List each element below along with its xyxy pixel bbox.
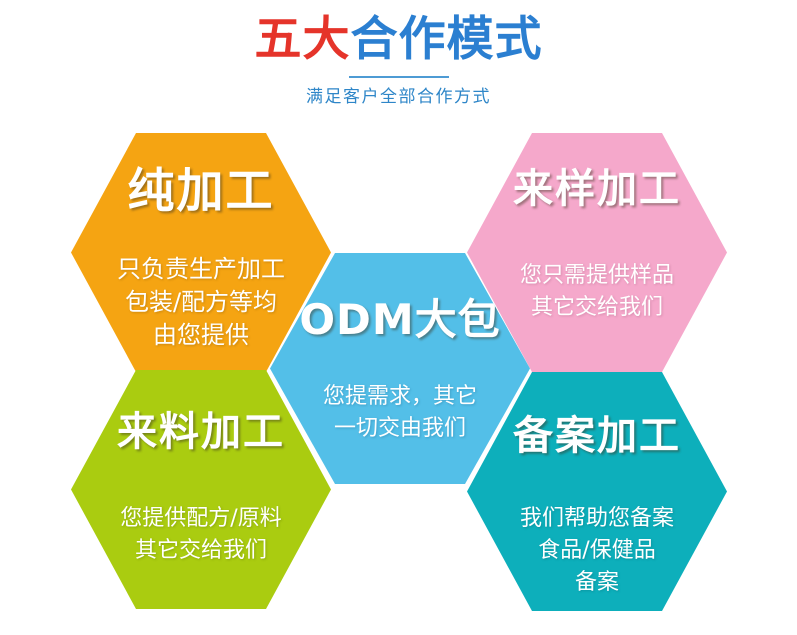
infographic-canvas: 五大合作模式 满足客户全部合作方式 纯加工 只负责生产加工 包装/配方等均 由您… bbox=[0, 0, 797, 635]
page-title-rest: 合作模式 bbox=[351, 12, 543, 67]
hex-body-material-processing: 您提供配方/原料 其它交给我们 bbox=[71, 503, 331, 567]
hex-title-record-filing-processing: 备案加工 bbox=[467, 412, 727, 460]
page-title: 五大合作模式 bbox=[0, 14, 797, 66]
hex-body-odm-full-package: 您提需求，其它 一切交由我们 bbox=[270, 381, 530, 445]
title-divider bbox=[349, 76, 449, 78]
page-title-highlight: 五大 bbox=[255, 12, 351, 67]
page-subtitle: 满足客户全部合作方式 bbox=[0, 85, 797, 109]
hex-title-pure-processing: 纯加工 bbox=[71, 165, 331, 219]
hex-body-sample-processing: 您只需提供样品 其它交给我们 bbox=[467, 260, 727, 324]
hex-title-material-processing: 来料加工 bbox=[71, 408, 331, 456]
hex-body-record-filing-processing: 我们帮助您备案 食品/保健品 备案 bbox=[467, 503, 727, 599]
hex-title-odm-full-package: ODM大包 bbox=[270, 295, 530, 345]
hex-title-sample-processing: 来样加工 bbox=[467, 165, 727, 213]
